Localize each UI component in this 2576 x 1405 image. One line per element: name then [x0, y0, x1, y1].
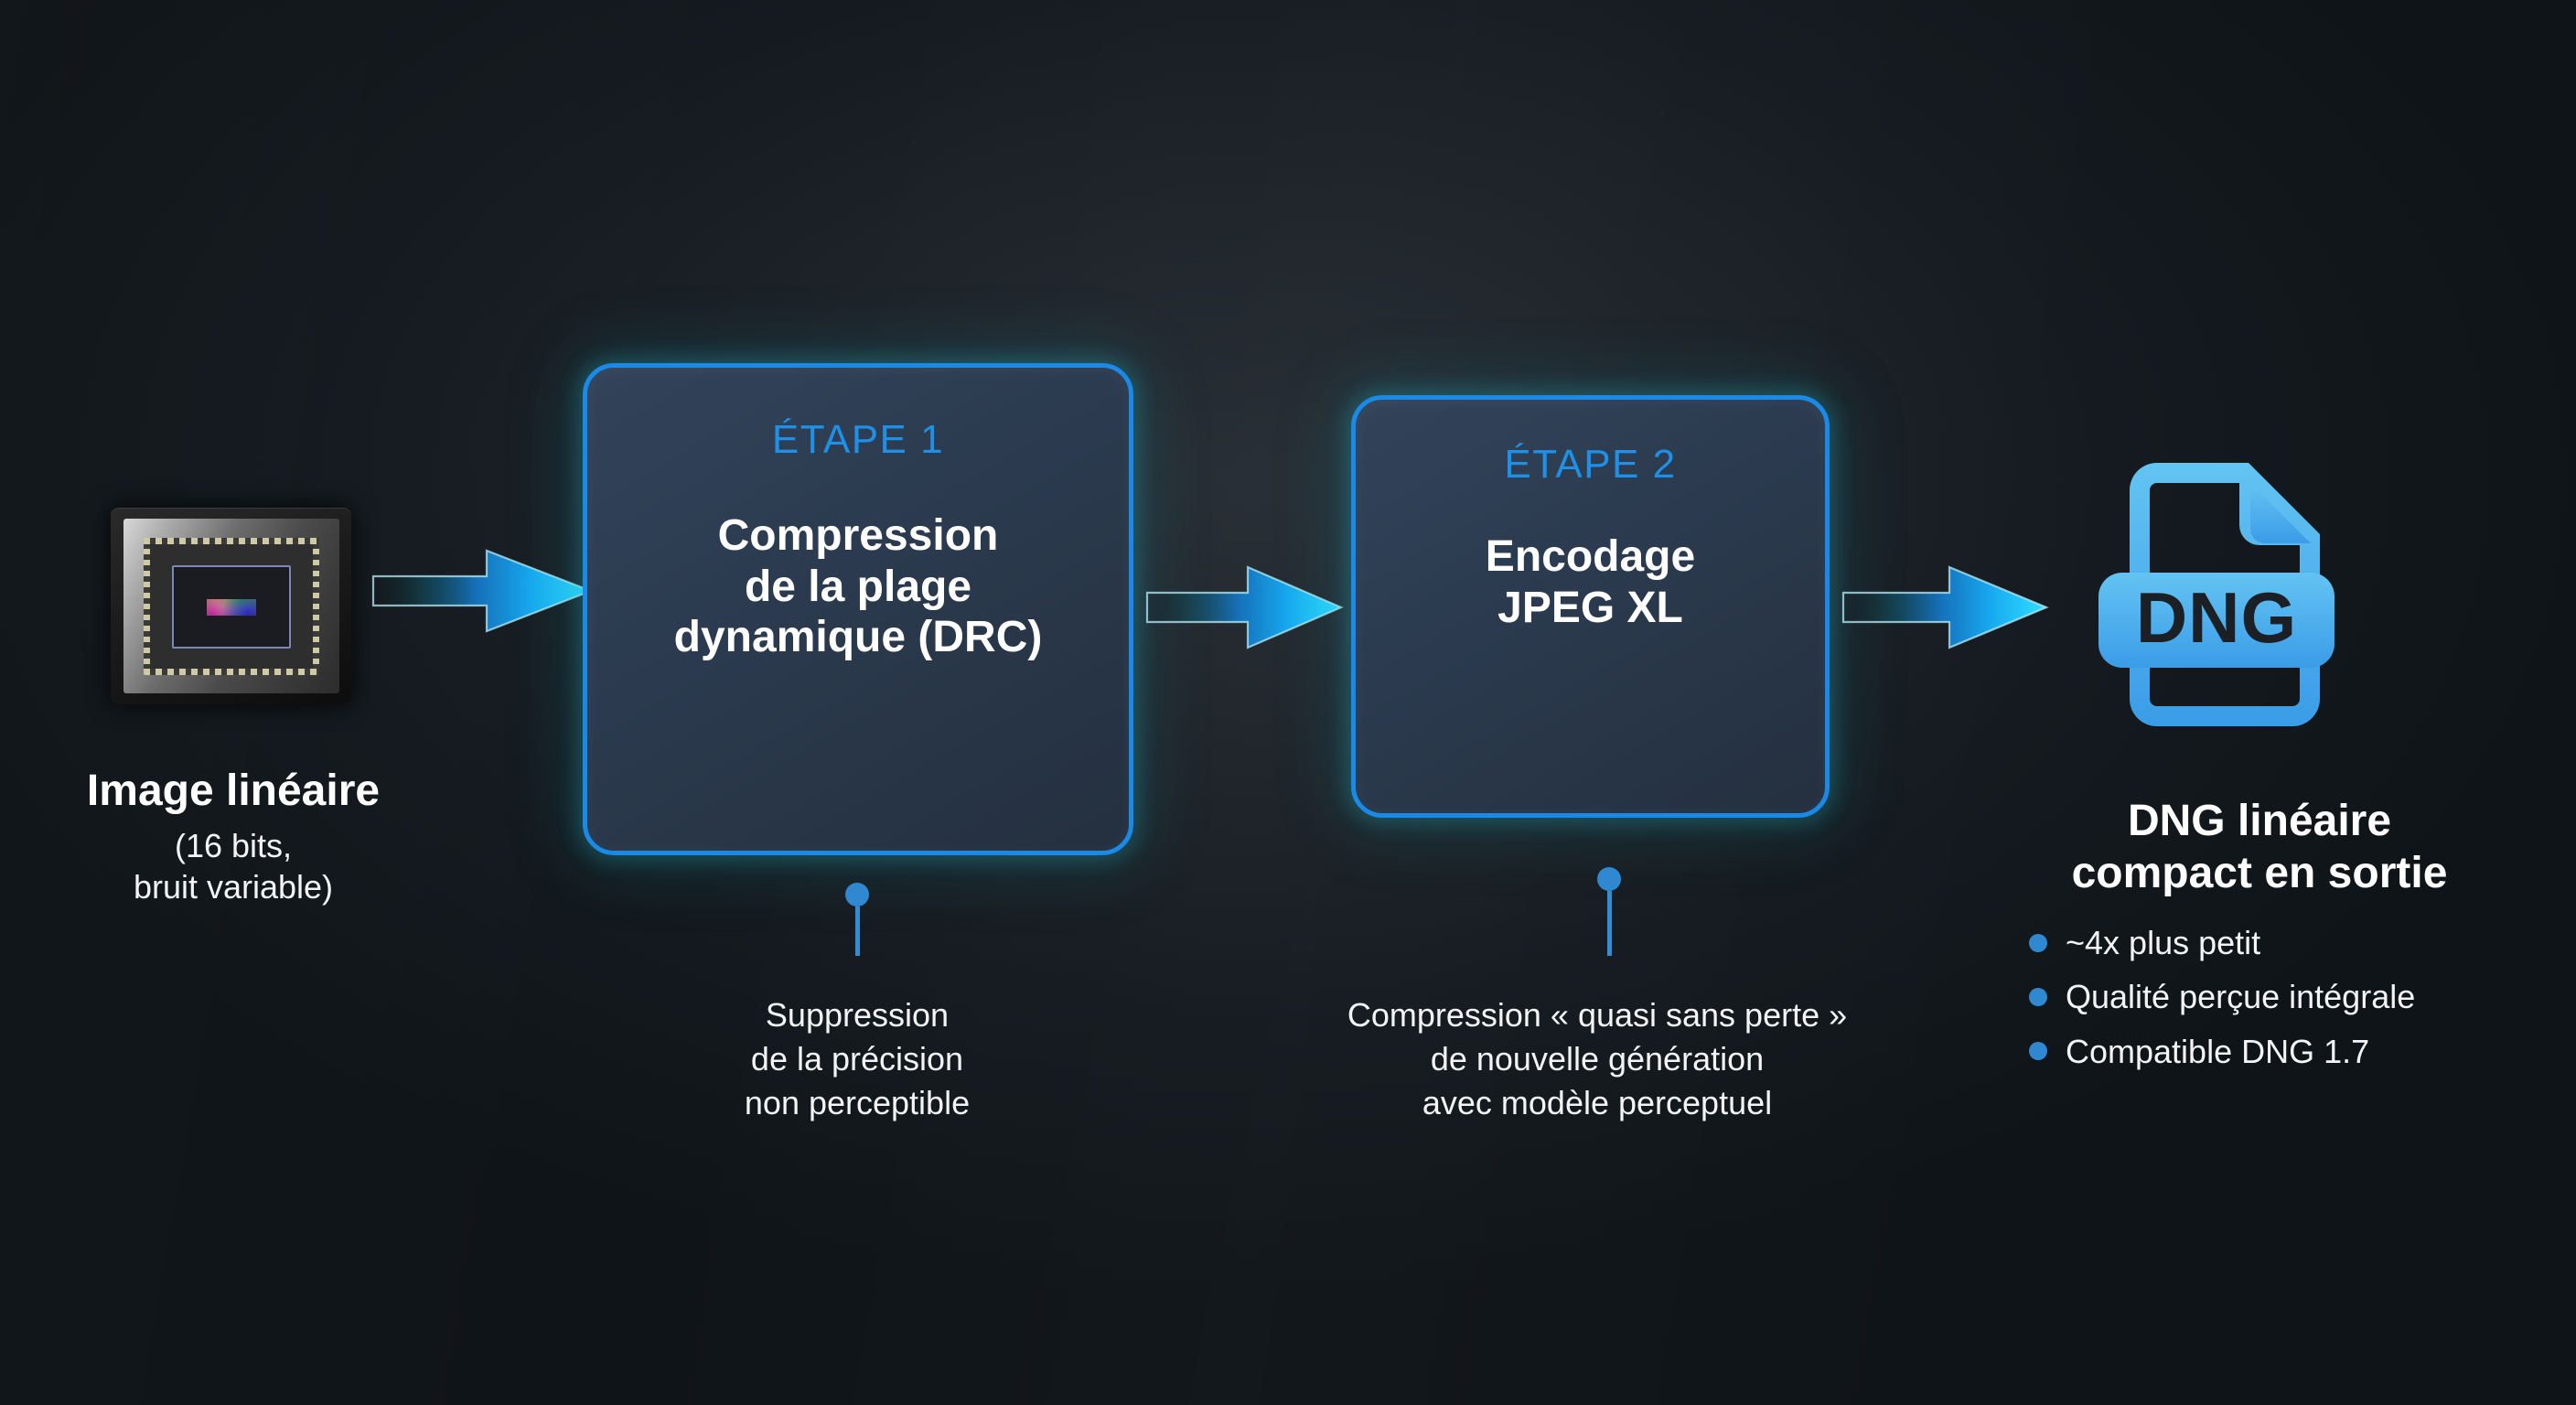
sensor-die-ring — [172, 565, 291, 649]
connector-stem-1 — [855, 906, 860, 956]
connector-step-2 — [1597, 867, 1621, 956]
input-sublabel: (16 bits, bruit variable) — [18, 825, 448, 907]
arrow-step2-to-output — [1843, 562, 2052, 653]
arrow-sensor-to-step1 — [373, 545, 596, 637]
dng-file-icon: DNG — [2095, 457, 2338, 732]
list-item: ~4x plus petit — [2029, 923, 2552, 962]
sensor-die-gradient — [207, 599, 256, 616]
list-item: Compatible DNG 1.7 — [2029, 1032, 2552, 1071]
input-label: Image linéaire — [18, 767, 448, 816]
step-1-caption: Suppression de la précision non percepti… — [647, 993, 1068, 1125]
output-bullet-text: Qualité perçue intégrale — [2066, 977, 2415, 1016]
output-block: DNG linéaire compact en sortie ~4x plus … — [1967, 796, 2552, 1086]
step-2-title: Encodage JPEG XL — [1486, 531, 1695, 633]
output-bullet-text: ~4x plus petit — [2066, 923, 2260, 962]
step-2-eyebrow: ÉTAPE 2 — [1504, 442, 1676, 488]
output-title: DNG linéaire compact en sortie — [1967, 796, 2552, 899]
sensor-bond-pads — [144, 538, 319, 675]
bullet-dot-icon — [2029, 934, 2047, 952]
output-bullet-list: ~4x plus petit Qualité perçue intégrale … — [1967, 923, 2552, 1071]
diagram-canvas: Image linéaire (16 bits, bruit variable)… — [0, 0, 2576, 1405]
input-label-group: Image linéaire (16 bits, bruit variable) — [18, 767, 448, 907]
step-1-eyebrow: ÉTAPE 1 — [772, 417, 944, 463]
connector-stem-2 — [1607, 891, 1612, 956]
connector-dot-1 — [845, 883, 869, 906]
camera-sensor-icon — [111, 508, 351, 704]
sensor-body — [111, 508, 351, 704]
dng-icon-label: DNG — [2136, 577, 2297, 658]
bullet-dot-icon — [2029, 1042, 2047, 1060]
output-bullet-text: Compatible DNG 1.7 — [2066, 1032, 2369, 1071]
step-box-2[interactable]: ÉTAPE 2 Encodage JPEG XL — [1351, 395, 1830, 818]
connector-step-1 — [845, 883, 869, 956]
step-1-title: Compression de la plage dynamique (DRC) — [674, 510, 1043, 663]
connector-dot-2 — [1597, 867, 1621, 891]
arrow-step1-to-step2 — [1147, 562, 1347, 653]
step-2-caption: Compression « quasi sans perte » de nouv… — [1250, 993, 1945, 1125]
step-box-1[interactable]: ÉTAPE 1 Compression de la plage dynamiqu… — [583, 363, 1133, 855]
bullet-dot-icon — [2029, 988, 2047, 1006]
list-item: Qualité perçue intégrale — [2029, 977, 2552, 1016]
sensor-plate — [123, 519, 339, 693]
